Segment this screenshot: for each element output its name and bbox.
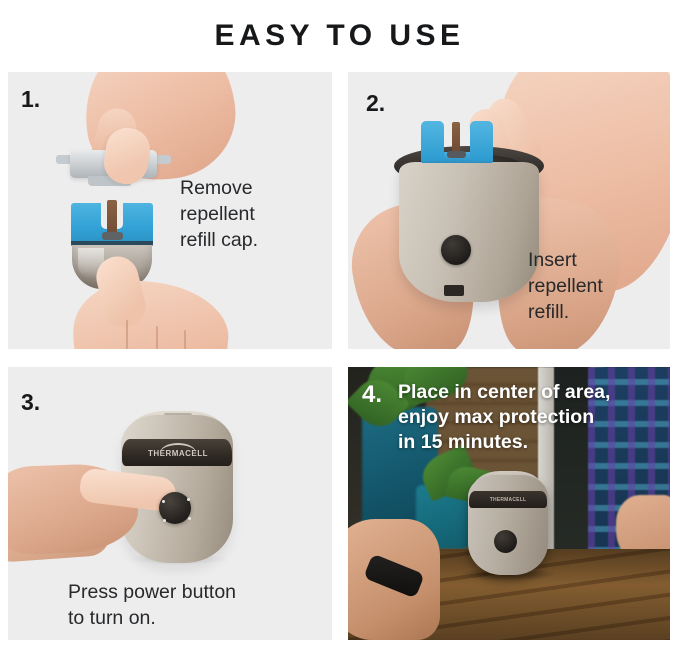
brand-logo-text: THERMACELL bbox=[143, 446, 213, 460]
step-4-number: 4. bbox=[362, 381, 382, 409]
step-panel-1: 1. Remove repellent refill cap. bbox=[8, 72, 332, 349]
led-indicator bbox=[162, 500, 165, 503]
finger-crease bbox=[184, 330, 186, 349]
finger-crease bbox=[126, 320, 128, 349]
led-indicator bbox=[187, 498, 190, 501]
step-4-caption: Place in center of area, enjoy max prote… bbox=[398, 380, 610, 455]
refill-cartridge-right bbox=[470, 121, 493, 161]
step-2-number: 2. bbox=[366, 90, 385, 117]
step-panel-3: THERMACELL 3. Press power button to turn… bbox=[8, 367, 332, 640]
step-1-number: 1. bbox=[21, 86, 40, 113]
step-1-caption: Remove repellent refill cap. bbox=[180, 175, 258, 253]
refill-post-collar bbox=[102, 232, 123, 240]
steps-grid: 1. Remove repellent refill cap. 2. Inser… bbox=[8, 72, 670, 640]
page-title: EASY TO USE bbox=[0, 0, 679, 72]
finger-crease bbox=[156, 326, 158, 349]
power-button bbox=[494, 530, 517, 553]
step-2-caption: Insert repellent refill. bbox=[528, 247, 603, 325]
device-body bbox=[468, 475, 548, 575]
power-button bbox=[441, 235, 471, 265]
led-indicator bbox=[188, 517, 191, 520]
step-2-illustration bbox=[348, 72, 670, 349]
step-panel-2: 2. Insert repellent refill. bbox=[348, 72, 670, 349]
brand-logo-text: THERMACELL bbox=[485, 495, 531, 504]
refill-cartridge-left bbox=[421, 121, 444, 161]
step-panel-4: THERMACELL 4. Place in center of area, e… bbox=[348, 367, 670, 640]
step-3-caption: Press power button to turn on. bbox=[68, 579, 236, 631]
charging-port bbox=[444, 285, 464, 296]
led-indicator bbox=[163, 519, 166, 522]
step-1-illustration bbox=[8, 72, 332, 349]
step-3-number: 3. bbox=[21, 389, 40, 416]
device-body bbox=[399, 162, 539, 302]
refill-post-collar bbox=[447, 151, 466, 158]
